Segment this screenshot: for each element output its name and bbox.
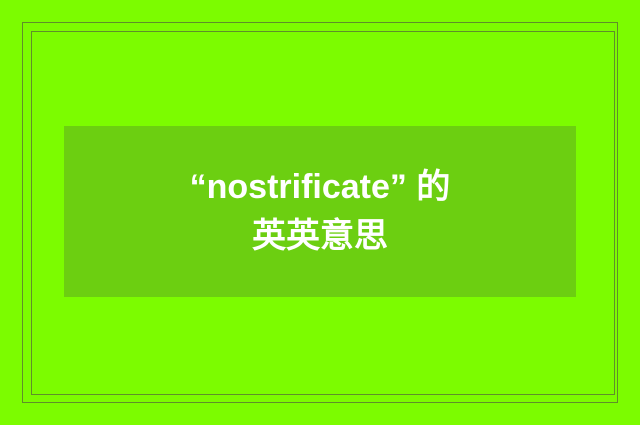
page-title: “nostrificate” 的英英意思 bbox=[165, 163, 475, 260]
banner-card: “nostrificate” 的英英意思 bbox=[0, 0, 640, 425]
content-band: “nostrificate” 的英英意思 bbox=[64, 126, 576, 297]
